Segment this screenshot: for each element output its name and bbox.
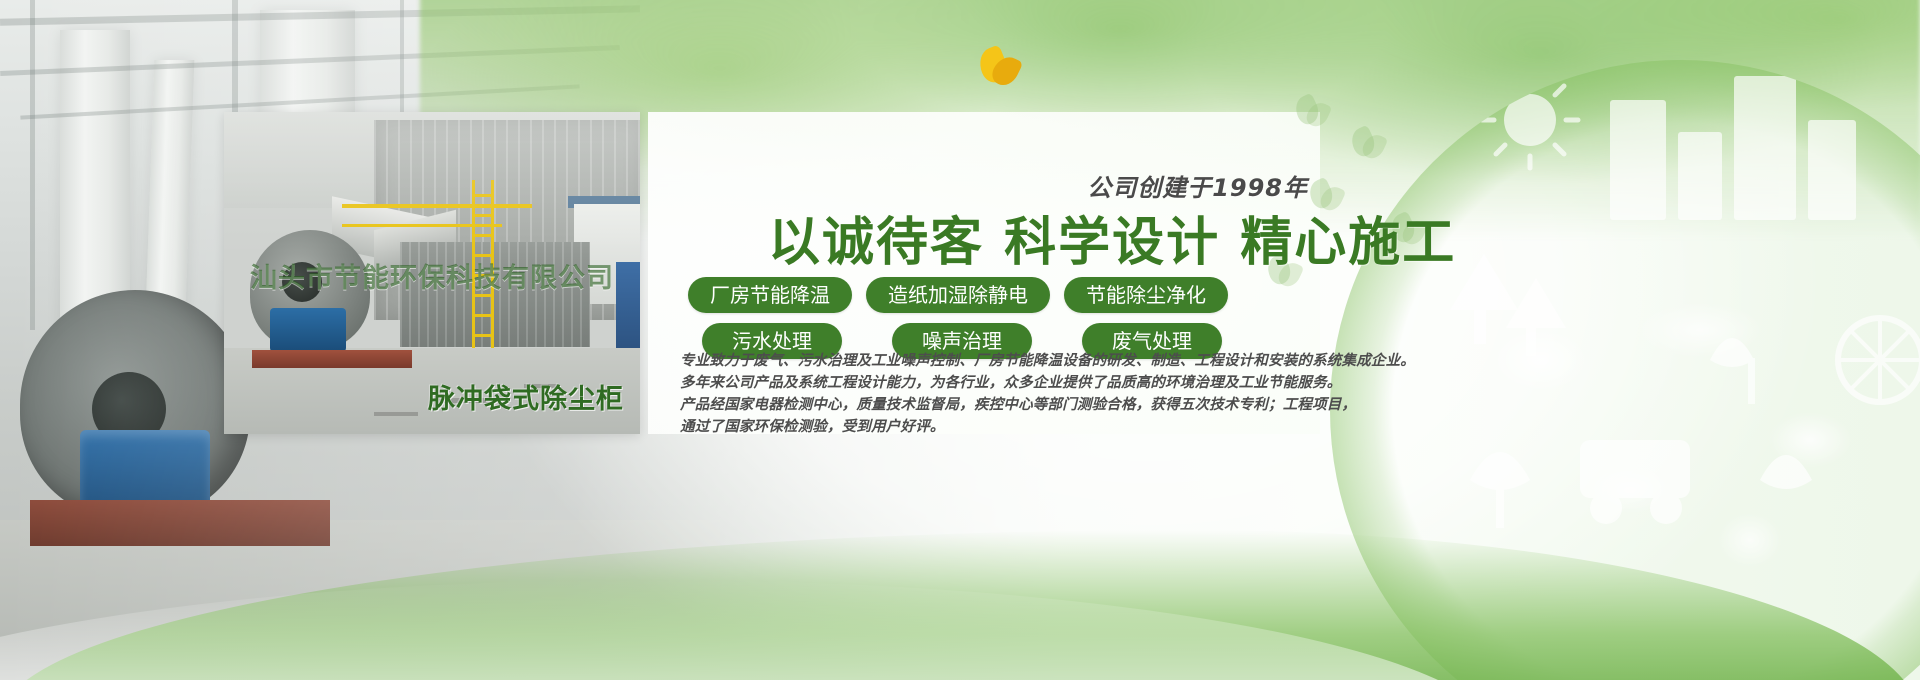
description-line-1: 专业致力于废气、污水治理及工业噪声控制、厂房节能降温设备的研发、制造、工程设计和… <box>680 350 1320 372</box>
service-pill-dust-purify[interactable]: 节能除尘净化 <box>1064 277 1228 313</box>
description-paragraph: 专业致力于废气、污水治理及工业噪声控制、厂房节能降温设备的研发、制造、工程设计和… <box>680 350 1320 438</box>
promo-banner: 汕头市节能环保科技有限公司 脉冲袋式除尘柜 公司创建于1998年 以诚待客 科学… <box>0 0 1920 680</box>
service-pill-paper-humidify[interactable]: 造纸加湿除静电 <box>866 277 1050 313</box>
description-line-4: 通过了国家环保检测验，受到用户好评。 <box>680 416 1320 438</box>
photo-watermark: 汕头市节能环保科技有限公司 <box>224 256 640 295</box>
service-pill-factory-cooling[interactable]: 厂房节能降温 <box>688 277 852 313</box>
eco-skyline-icon <box>1410 60 1920 620</box>
project-photo-card: 汕头市节能环保科技有限公司 脉冲袋式除尘柜 <box>224 112 640 434</box>
established-line: 公司创建于1998年 <box>1087 168 1308 203</box>
banner-content: 公司创建于1998年 以诚待客 科学设计 精心施工 厂房节能降温 造纸加湿除静电… <box>648 112 1348 532</box>
description-line-3: 产品经国家电器检测中心，质量技术监督局，疾控中心等部门测验合格，获得五次技术专利… <box>680 394 1320 416</box>
description-line-2: 多年来公司产品及系统工程设计能力，为各行业，众多企业提供了品质高的环境治理及工业… <box>680 372 1320 394</box>
photo-caption: 脉冲袋式除尘柜 <box>428 377 624 416</box>
service-pill-row-1: 厂房节能降温 造纸加湿除静电 节能除尘净化 <box>688 277 1328 313</box>
headline-slogan: 以诚待客 科学设计 精心施工 <box>768 200 1456 275</box>
